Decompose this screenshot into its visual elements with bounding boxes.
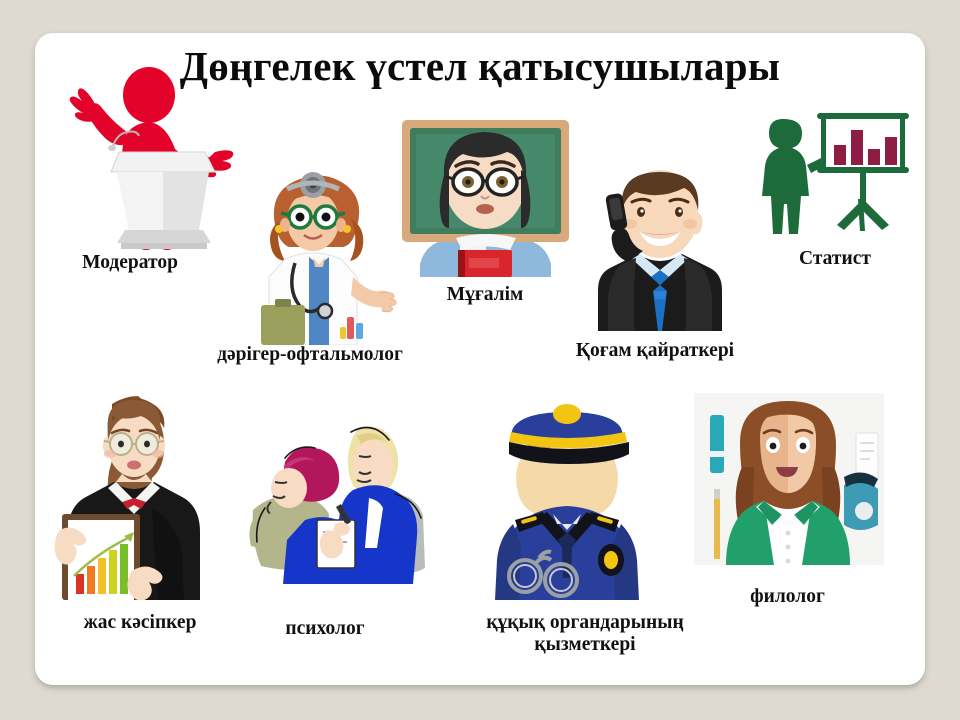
- label-public-figure: Қоғам қайраткері: [530, 340, 780, 362]
- figure-law-enforcement-officer: [475, 388, 660, 600]
- figure-psychologist: [245, 402, 435, 590]
- figure-ophthalmologist: [255, 165, 405, 345]
- cartoon-doctor-woman-icon: [255, 165, 405, 345]
- label-philologist: филолог: [680, 586, 895, 608]
- figure-teacher: [398, 112, 573, 277]
- police-officer-with-handcuffs-icon: [475, 388, 660, 600]
- label-psychologist: психолог: [230, 618, 420, 640]
- presenter-with-bar-chart-icon: [755, 103, 920, 238]
- red-3d-person-at-podium-icon: [55, 60, 255, 250]
- businessman-with-phone-icon: [578, 166, 733, 331]
- figure-statistician: [755, 103, 920, 238]
- slide-root: Дөңгелек үстел қатысушылары Модератор: [0, 0, 960, 720]
- label-law-enforcement-officer: құқық органдарының қызметкері: [440, 612, 730, 656]
- figure-philologist: [694, 393, 884, 565]
- flat-woman-green-cardigan-icon: [694, 393, 884, 565]
- teacher-emoji-chalkboard-icon: [398, 112, 573, 277]
- label-statistician: Статист: [740, 248, 930, 270]
- label-young-entrepreneur: жас кәсіпкер: [25, 612, 255, 634]
- figure-public-figure: [578, 166, 733, 331]
- businesswoman-holding-chart-icon: [52, 388, 222, 600]
- therapy-session-sketch-icon: [245, 402, 435, 590]
- label-teacher: Мұғалім: [390, 284, 580, 306]
- figure-moderator: [55, 60, 255, 250]
- label-moderator: Модератор: [40, 252, 220, 274]
- figure-young-entrepreneur: [52, 388, 222, 600]
- label-ophthalmologist: дәрігер-офтальмолог: [170, 344, 450, 366]
